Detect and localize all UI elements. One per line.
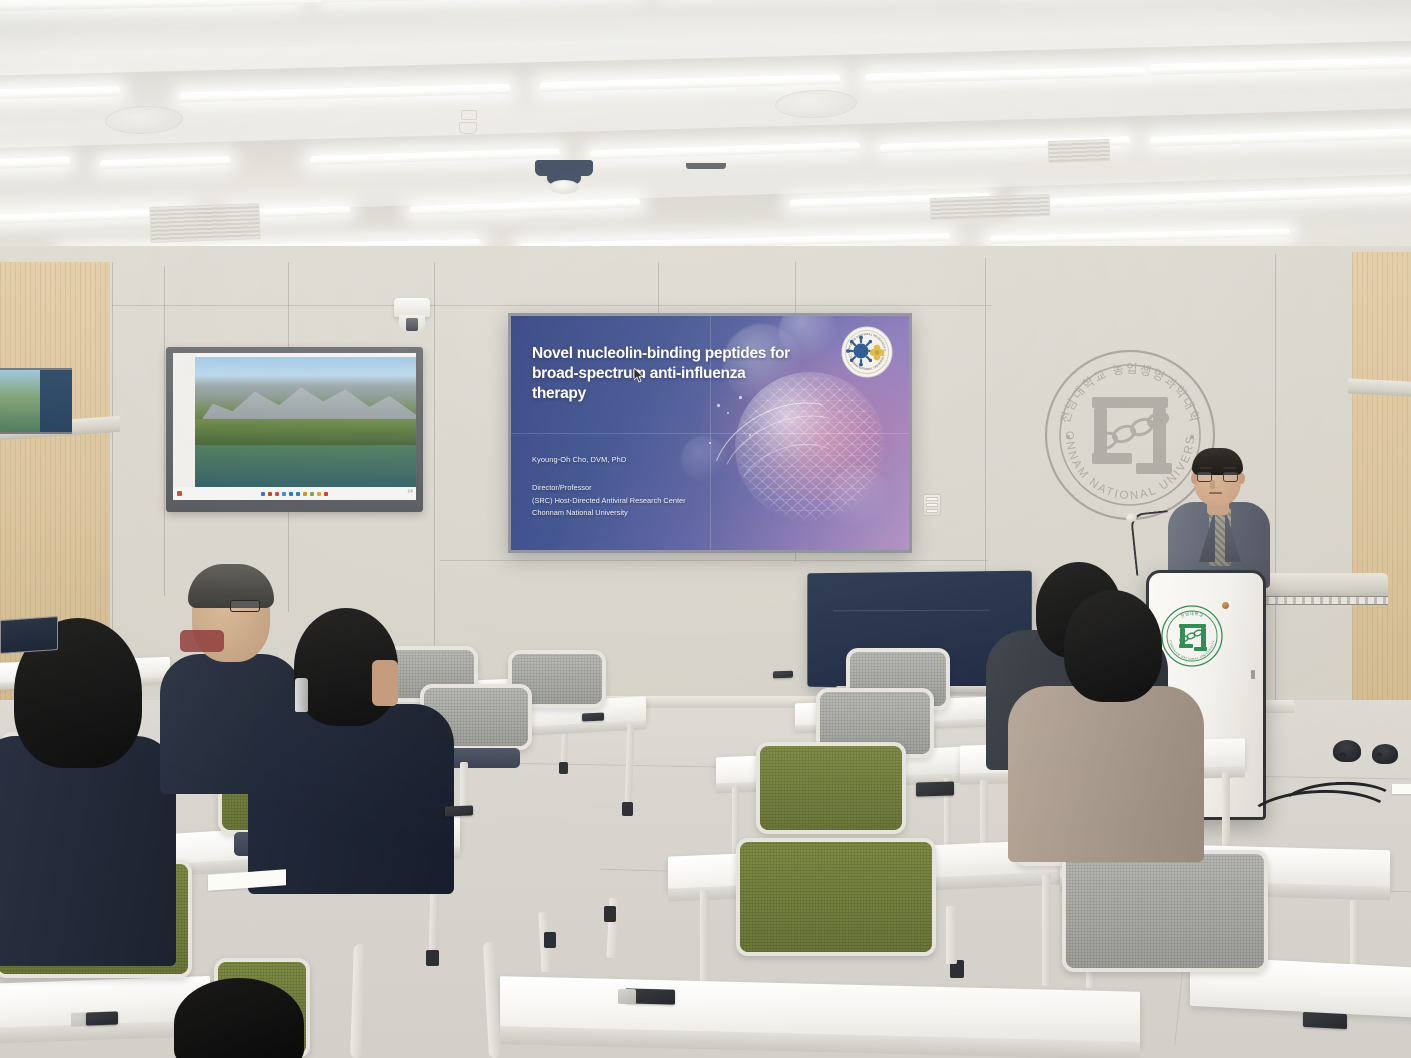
windows-desktop-monitor[interactable]: 오후 <box>166 347 423 512</box>
ptz-camera-lens-icon <box>406 318 418 331</box>
wall-seam <box>1275 254 1276 754</box>
handout-paper[interactable] <box>1392 784 1411 794</box>
presentation-video-wall[interactable]: Novel nucleolin-binding peptides for bro… <box>508 313 912 553</box>
podium-lock-icon[interactable] <box>1251 670 1255 679</box>
gooseneck-microphone-stem <box>1130 510 1174 576</box>
smoke-detector <box>461 110 477 120</box>
wall-seam <box>434 262 435 702</box>
chonnam-national-university-wall-logo: 전남대학교 농업생명과학대학 CHONNAM NATIONAL UNIVERSI… <box>1040 345 1220 525</box>
ceiling <box>0 0 1411 262</box>
taskbar-clock: 오후 <box>407 490 413 493</box>
wall-seam <box>658 262 659 318</box>
videowall-seam-horizontal <box>511 433 909 434</box>
smartphone-screen[interactable] <box>86 1011 118 1025</box>
taskbar-app-icon[interactable] <box>317 492 321 496</box>
light-switch-rocker[interactable] <box>926 503 938 507</box>
wall-seam <box>440 560 988 561</box>
light-switch-rocker[interactable] <box>926 497 938 501</box>
windows-taskbar[interactable]: 오후 <box>173 487 416 500</box>
taskbar-app-icon[interactable] <box>261 492 265 496</box>
open-laptop[interactable] <box>0 616 58 654</box>
light-switch-plate[interactable] <box>923 494 941 516</box>
hvac-vent <box>930 194 1051 220</box>
research-center-logo: HOST-DIRECTED ANTIVIRAL RESEARCH CENTER … <box>841 326 893 378</box>
water-bottle <box>295 678 308 712</box>
svg-text:전남대학교 농업생명과학대학: 전남대학교 농업생명과학대학 <box>1058 362 1202 425</box>
speaker-nose <box>1210 480 1215 489</box>
slide-affiliation-line2: (SRC) Host-Directed Antiviral Research C… <box>532 495 686 508</box>
wall-seam <box>164 266 165 596</box>
taskbar-app-icon[interactable] <box>303 492 307 496</box>
smartphone-on-desk[interactable] <box>916 782 954 797</box>
smartphone-on-desk[interactable] <box>582 713 604 722</box>
chair-backrest[interactable] <box>756 742 906 834</box>
speaker-ear <box>1239 473 1245 484</box>
monitor-screen: 오후 <box>173 353 416 500</box>
side-display-content <box>0 370 40 432</box>
chair-backrest[interactable] <box>1062 850 1268 972</box>
smartphone-on-desk[interactable] <box>773 671 793 679</box>
projector-lens <box>549 180 579 194</box>
taskbar-app-icon[interactable] <box>296 492 300 496</box>
speaker-mouth <box>1209 492 1222 494</box>
svg-text:전남대학교: 전남대학교 <box>1179 610 1204 619</box>
taskbar-app-icon[interactable] <box>275 492 279 496</box>
slide-affiliation-line3: Chonnam National University <box>532 507 686 520</box>
svg-text:CHONNAM NATIONAL UNIVERSITY: CHONNAM NATIONAL UNIVERSITY <box>1168 640 1216 661</box>
wall-ledge-right <box>1348 378 1411 396</box>
smoke-detector <box>459 122 477 134</box>
taskbar-app-icon[interactable] <box>324 492 328 496</box>
podium-knob[interactable] <box>1222 602 1229 609</box>
lecture-hall-photo: 전남대학교 농업생명과학대학 CHONNAM NATIONAL UNIVERSI… <box>0 0 1411 1058</box>
podium-university-logo: 전남대학교 CHONNAM NATIONAL UNIVERSITY <box>1160 604 1224 668</box>
smartphone-on-desk[interactable] <box>1303 1012 1347 1029</box>
slide-author: Kyoung-Oh Cho, DVM, PhD <box>532 455 626 464</box>
chair-backrest[interactable] <box>736 838 936 956</box>
smartphone-on-desk[interactable] <box>445 805 473 816</box>
hvac-vent <box>149 203 260 243</box>
hvac-vent <box>1048 139 1111 163</box>
wall-seam <box>112 305 992 306</box>
slide-title: Novel nucleolin-binding peptides for bro… <box>532 344 790 403</box>
podium-keyboard-rail[interactable] <box>1248 596 1388 605</box>
presentation-slide: Novel nucleolin-binding peptides for bro… <box>511 316 909 550</box>
side-display-partial <box>0 368 72 434</box>
taskbar-app-icon[interactable] <box>282 492 286 496</box>
smartphone-case[interactable] <box>618 989 636 1004</box>
slide-affiliation: Director/Professor (SRC) Host-Directed A… <box>532 482 686 520</box>
monitor-stand <box>686 163 726 169</box>
taskbar-app-icon[interactable] <box>268 492 272 496</box>
window-sidebar-panel <box>173 353 196 487</box>
light-switch-rocker[interactable] <box>926 509 938 513</box>
speaker-glasses <box>1197 472 1238 482</box>
desktop-wallpaper <box>195 357 416 487</box>
speaker-hair <box>1192 448 1243 475</box>
taskbar-app-icon[interactable] <box>289 492 293 496</box>
slide-affiliation-line1: Director/Professor <box>532 482 686 495</box>
start-button-icon[interactable] <box>177 491 182 496</box>
taskbar-app-icon[interactable] <box>310 492 314 496</box>
